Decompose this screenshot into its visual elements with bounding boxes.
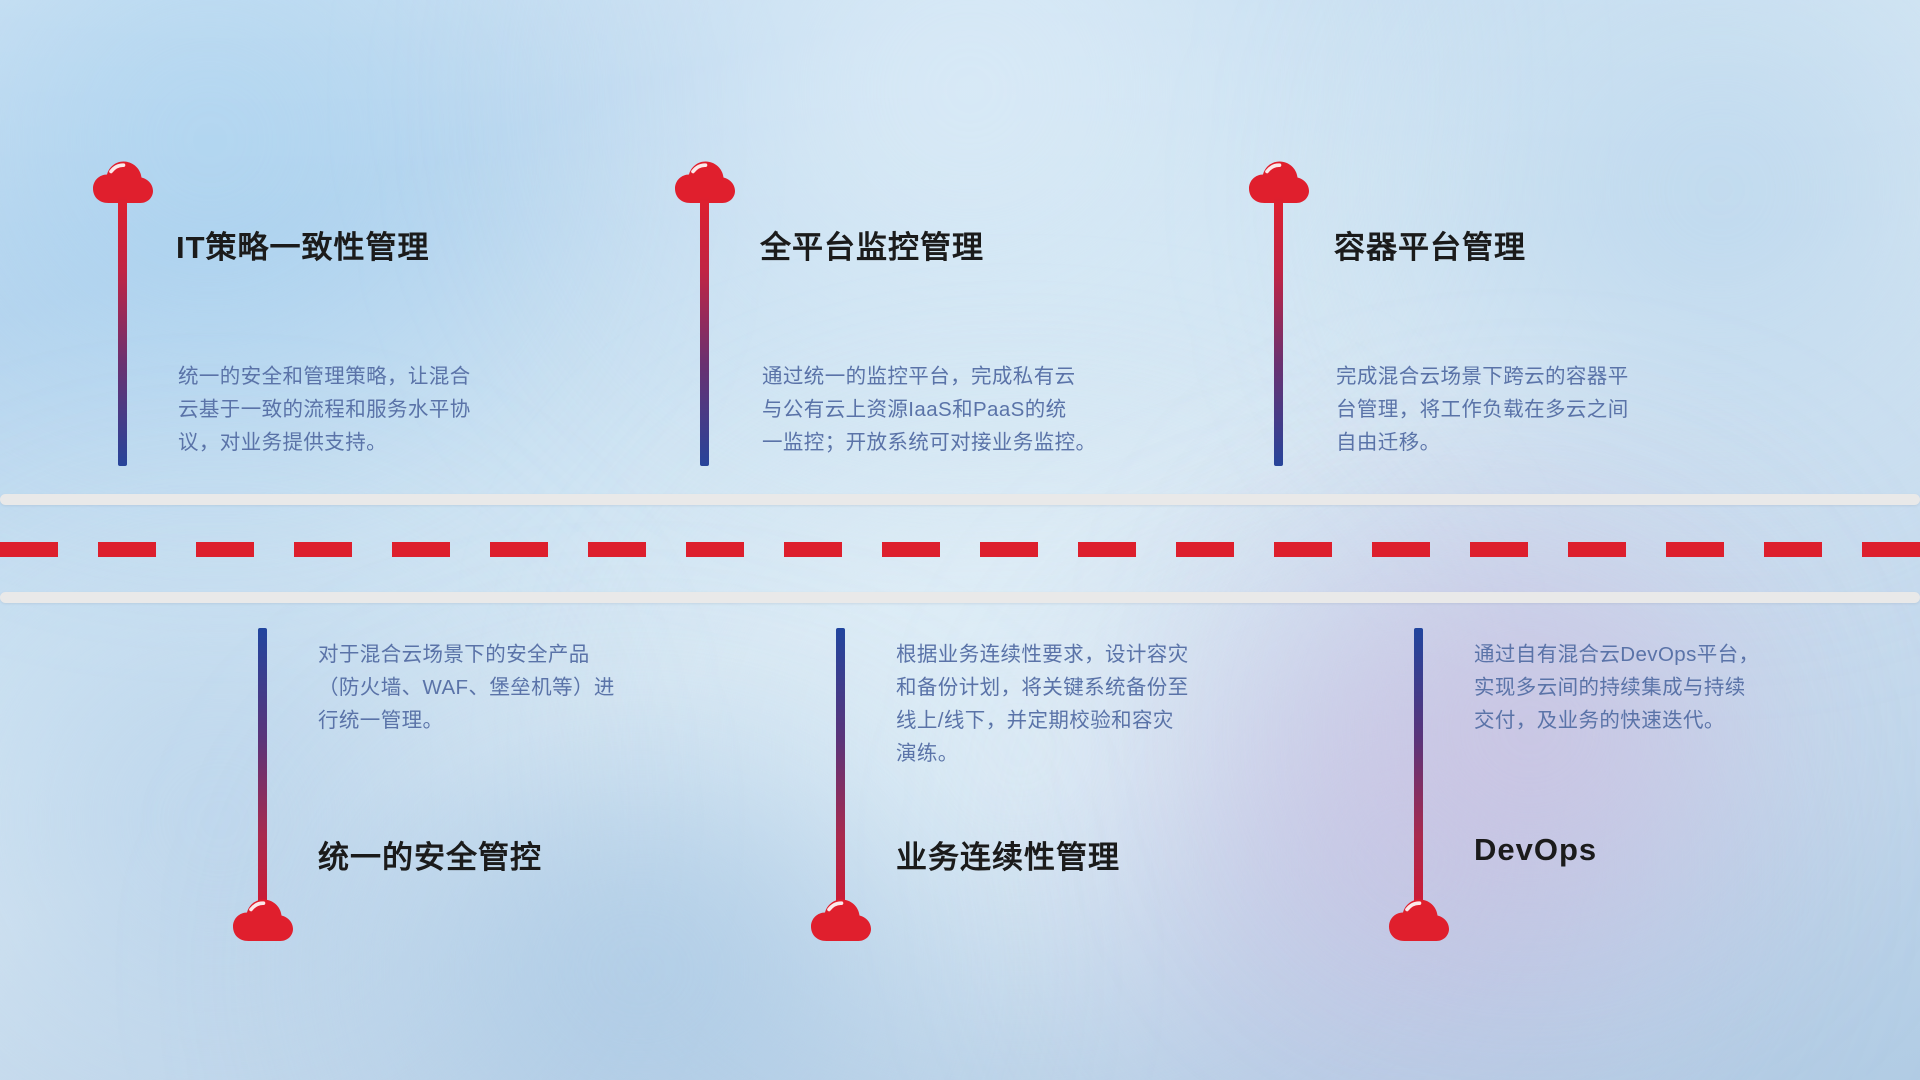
- cloud-icon: [810, 898, 872, 942]
- connector-stem: [118, 196, 127, 466]
- feature-description: 通过统一的监控平台，完成私有云 与公有云上资源IaaS和PaaS的统 一监控；开…: [762, 360, 1212, 459]
- feature-description: 对于混合云场景下的安全产品 （防火墙、WAF、堡垒机等）进 行统一管理。: [318, 638, 748, 737]
- connector-stem: [836, 628, 845, 908]
- connector-stem: [1274, 196, 1283, 466]
- connector-stem: [700, 196, 709, 466]
- connector-stem: [1414, 628, 1423, 908]
- infographic-canvas: IT策略一致性管理 统一的安全和管理策略，让混合 云基于一致的流程和服务水平协 …: [0, 0, 1920, 1080]
- feature-title: IT策略一致性管理: [176, 222, 430, 267]
- feature-description: 根据业务连续性要求，设计容灾 和备份计划，将关键系统备份至 线上/线下，并定期校…: [896, 638, 1326, 770]
- feature-title: 业务连续性管理: [896, 832, 1120, 877]
- cloud-icon: [1388, 898, 1450, 942]
- feature-title: 全平台监控管理: [760, 222, 984, 267]
- feature-description: 完成混合云场景下跨云的容器平 台管理，将工作负载在多云之间 自由迁移。: [1336, 360, 1776, 459]
- feature-title: 容器平台管理: [1334, 222, 1526, 267]
- road-edge-bottom: [0, 592, 1920, 603]
- feature-title: 统一的安全管控: [318, 832, 542, 877]
- feature-description: 统一的安全和管理策略，让混合 云基于一致的流程和服务水平协 议，对业务提供支持。: [178, 360, 608, 459]
- feature-description: 通过自有混合云DevOps平台， 实现多云间的持续集成与持续 交付，及业务的快速…: [1474, 638, 1894, 737]
- road-center-dashed-line: [0, 542, 1920, 557]
- connector-stem: [258, 628, 267, 908]
- feature-title: DevOps: [1474, 832, 1597, 868]
- road-edge-top: [0, 494, 1920, 505]
- cloud-icon: [232, 898, 294, 942]
